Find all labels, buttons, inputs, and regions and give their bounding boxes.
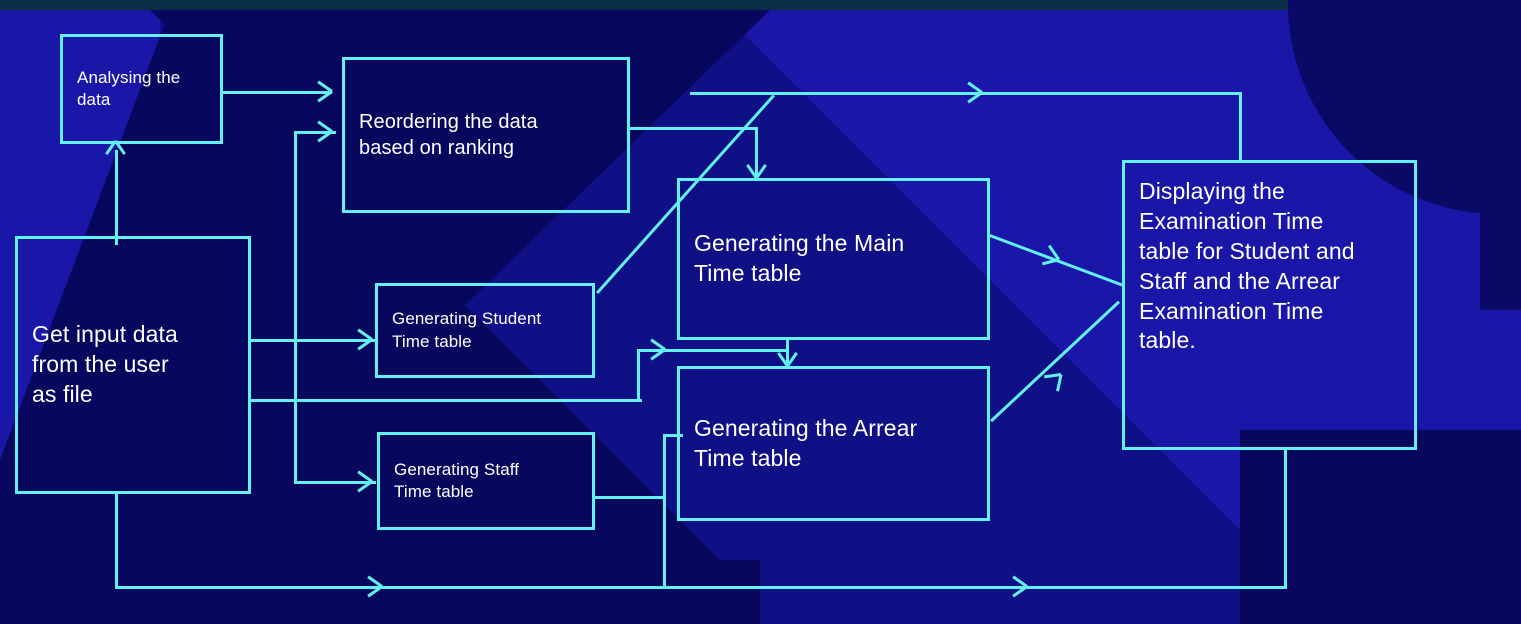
- node-generating-staff-time-table[interactable]: Generating Staff Time table: [377, 432, 595, 530]
- edge-arrear-display-diagonal: [990, 301, 1120, 423]
- top-bar: [0, 0, 1521, 10]
- edge-getinput-bottom-vertical: [115, 492, 118, 589]
- edge-staff-right-horizontal: [594, 496, 666, 499]
- bg-shadow-top-right-corner: [1480, 10, 1521, 310]
- arrowhead-into-reorder-top: [315, 81, 337, 103]
- edge-getinput-lower-horizontal: [250, 399, 642, 402]
- arrowhead-top-route: [965, 82, 987, 104]
- arrowhead-bottom-route-left: [365, 576, 387, 598]
- edge-bottom-route-up-vertical: [1284, 450, 1287, 589]
- edge-junction-riser-vertical: [637, 349, 640, 401]
- arrowhead-main-display: [1039, 244, 1067, 272]
- edge-getinput-riser-vertical: [294, 131, 297, 483]
- node-generating-main-time-table[interactable]: Generating the Main Time table: [677, 178, 990, 340]
- edge-top-route-down-vertical: [1239, 92, 1242, 162]
- edge-getinput-analysing-vertical: [115, 150, 118, 245]
- edge-reorder-main-horizontal: [628, 127, 758, 130]
- node-reordering-the-data[interactable]: Reordering the data based on ranking: [342, 57, 630, 213]
- node-displaying-examination-time-table[interactable]: Displaying the Examination Time table fo…: [1122, 160, 1417, 450]
- edge-bottom-route-horizontal: [115, 586, 1287, 589]
- bg-shadow-right-block: [1240, 430, 1521, 624]
- arrowhead-into-student: [355, 329, 377, 351]
- arrowhead-into-reorder-bottom: [315, 121, 337, 143]
- arrowhead-bottom-route-right: [1010, 576, 1032, 598]
- flowchart-canvas: Analysing the data Get input data from t…: [0, 0, 1521, 624]
- node-get-input-data[interactable]: Get input data from the user as file: [15, 236, 251, 494]
- arrowhead-into-staff: [355, 471, 377, 493]
- node-generating-student-time-table[interactable]: Generating Student Time table: [375, 283, 595, 378]
- arrowhead-junction-right: [648, 339, 670, 361]
- node-analysing-the-data[interactable]: Analysing the data: [60, 34, 223, 144]
- node-generating-arrear-time-table[interactable]: Generating the Arrear Time table: [677, 366, 990, 521]
- edge-staff-right-vertical: [663, 434, 666, 586]
